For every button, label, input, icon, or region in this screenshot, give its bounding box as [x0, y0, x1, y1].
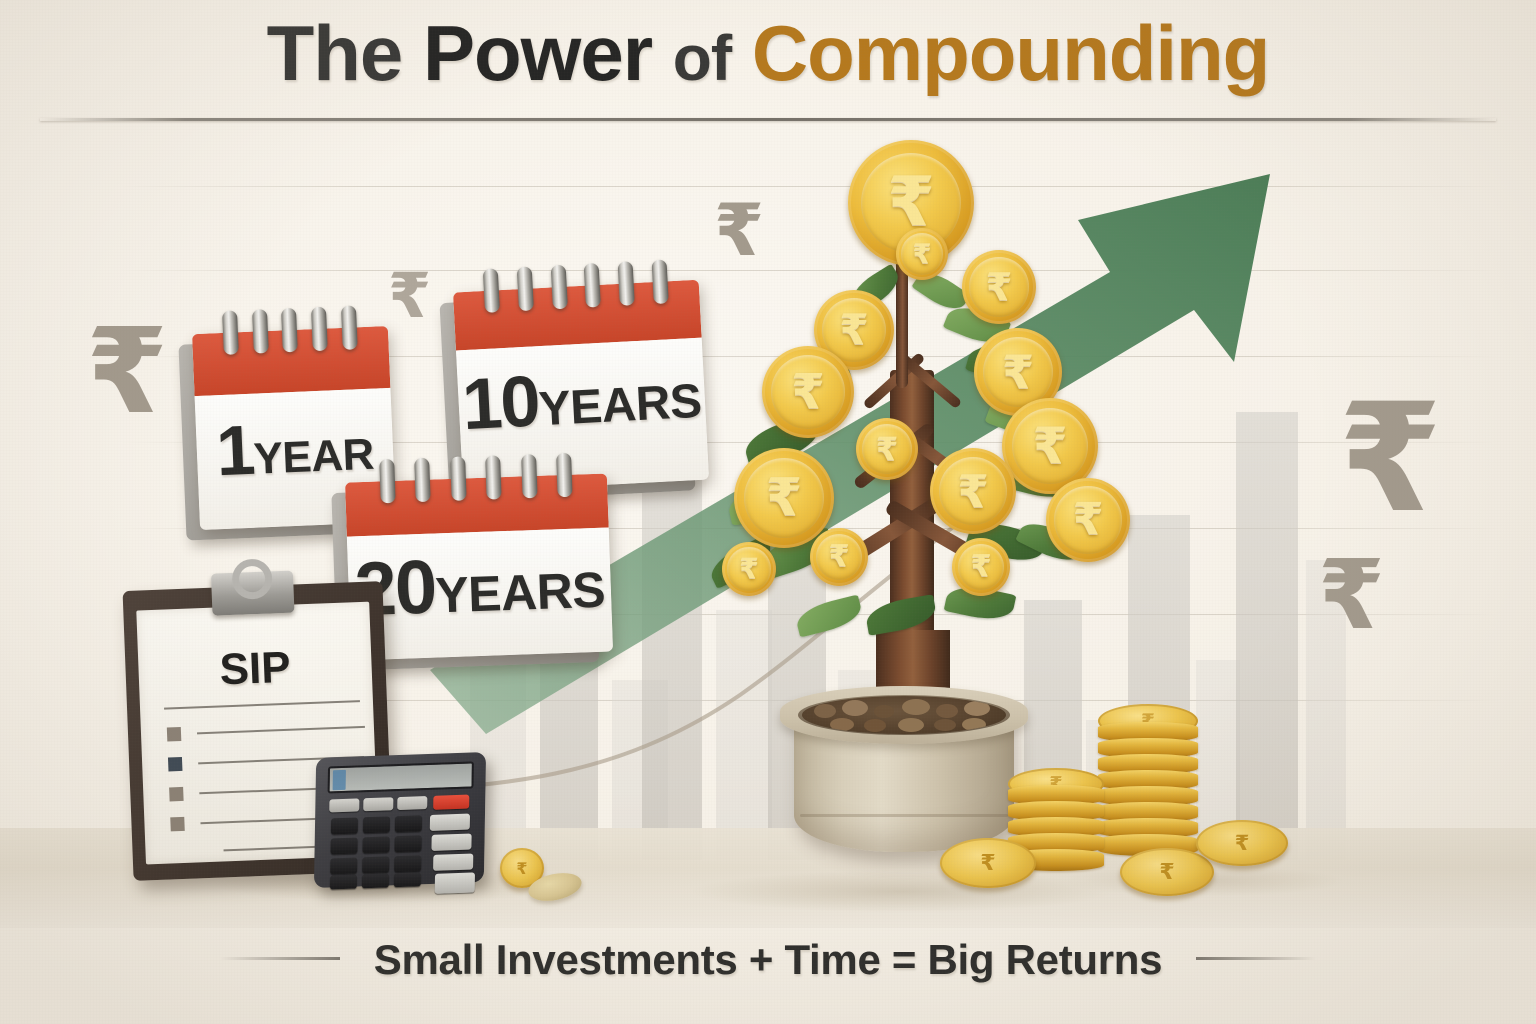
rupee-watermark: ₹	[388, 268, 431, 324]
calendar-label: 10 YEARS	[457, 352, 707, 447]
tree-coin: ₹	[962, 250, 1036, 324]
calculator-key[interactable]	[330, 875, 357, 890]
pot-soil	[802, 696, 1006, 734]
tagline-dash-left	[220, 957, 340, 960]
calculator-clear-key[interactable]	[433, 795, 469, 810]
calculator-function-key[interactable]	[397, 796, 427, 810]
calculator-operator-key[interactable]	[433, 853, 473, 870]
calculator-key[interactable]	[362, 836, 389, 853]
checklist-bullet	[168, 757, 183, 772]
calculator[interactable]	[314, 752, 486, 888]
title-divider	[40, 118, 1496, 121]
infographic-canvas: ₹ ₹ ₹ ₹ ₹ The Power of Compounding 1 YEA…	[0, 0, 1536, 1024]
loose-coin: ₹	[1120, 848, 1214, 896]
rupee-watermark: ₹	[1318, 552, 1385, 638]
clipboard-rule	[164, 700, 360, 710]
title-word-compounding: Compounding	[752, 9, 1270, 97]
rupee-watermark: ₹	[1338, 392, 1442, 527]
clipboard-rule	[197, 726, 365, 734]
calculator-key[interactable]	[331, 817, 358, 834]
tagline: Small Investments + Time = Big Returns	[0, 936, 1536, 984]
calculator-operator-key[interactable]	[430, 814, 470, 831]
tree-coin: ₹	[722, 542, 776, 596]
calculator-key[interactable]	[395, 815, 422, 832]
calendar-number: 1	[215, 410, 255, 491]
coin-stack-tall	[1098, 704, 1198, 864]
pot-rim-line	[800, 814, 1008, 817]
calendar-unit: YEARS	[537, 374, 703, 437]
loose-coin: ₹	[1196, 820, 1288, 866]
title-word-of: of	[673, 22, 731, 94]
calendar-20-years[interactable]: 20 YEARS	[345, 473, 613, 660]
rupee-watermark: ₹	[86, 318, 168, 424]
calculator-key[interactable]	[330, 837, 357, 854]
tree-coin: ₹	[952, 538, 1010, 596]
title-word-power: Power	[423, 9, 652, 97]
calendar-number: 10	[460, 360, 540, 446]
calculator-key[interactable]	[394, 835, 421, 852]
tagline-dash-right	[1196, 957, 1316, 960]
calculator-key[interactable]	[394, 855, 421, 872]
tree-coin: ₹	[810, 528, 868, 586]
loose-coin: ₹	[940, 838, 1036, 888]
tree-leaf	[794, 594, 865, 637]
money-tree: ₹ ₹ ₹ ₹ ₹ ₹ ₹ ₹ ₹ ₹ ₹ ₹	[700, 130, 1120, 710]
clipboard-clamp-icon	[211, 571, 295, 616]
checklist-bullet	[167, 727, 182, 742]
tagline-text: Small Investments + Time = Big Returns	[374, 936, 1162, 983]
calculator-key[interactable]	[394, 872, 421, 887]
tree-coin: ₹	[930, 448, 1016, 534]
calculator-function-key[interactable]	[329, 798, 359, 812]
tree-coin: ₹	[762, 346, 854, 438]
checklist-bullet	[169, 787, 184, 802]
tree-coin: ₹	[1046, 478, 1130, 562]
tree-coin: ₹	[734, 448, 834, 548]
calendar-unit: YEARS	[434, 561, 606, 625]
calendar-label: 20 YEARS	[347, 537, 612, 633]
calendar-rings	[344, 451, 607, 504]
calculator-key[interactable]	[363, 816, 390, 833]
calendar-rings	[191, 304, 389, 356]
calculator-key[interactable]	[362, 856, 389, 873]
calculator-display	[328, 761, 474, 793]
tree-coin: ₹	[856, 418, 918, 480]
page-title: The Power of Compounding	[0, 14, 1536, 92]
clipboard-heading: SIP	[138, 640, 373, 699]
pot-rim	[780, 686, 1028, 744]
checklist-bullet	[170, 817, 185, 832]
calculator-function-key[interactable]	[363, 797, 393, 811]
calculator-key[interactable]	[362, 873, 389, 888]
calculator-plus-key[interactable]	[435, 872, 475, 893]
tree-coin: ₹	[896, 228, 948, 280]
calculator-key[interactable]	[330, 858, 357, 875]
calculator-operator-key[interactable]	[431, 834, 471, 851]
title-word-the: The	[267, 9, 403, 97]
